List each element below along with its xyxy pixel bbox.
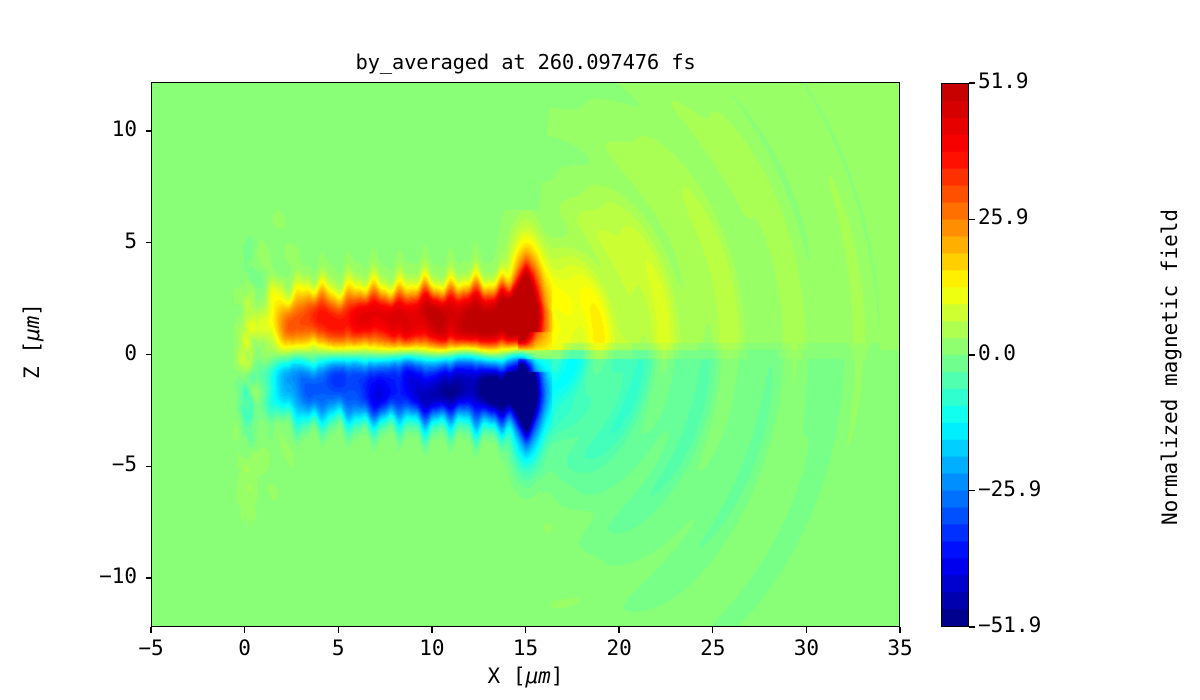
x-axis-label-text: X [ — [488, 664, 526, 688]
colorbar-tick-3 — [969, 219, 975, 220]
x-tick-5 — [618, 627, 619, 633]
y-tick-label-0: −10 — [0, 564, 137, 588]
x-tick-label-0: −5 — [111, 636, 191, 660]
x-axis-label-close: ] — [551, 664, 564, 688]
x-tick-label-7: 30 — [766, 636, 846, 660]
colorbar-tick-label-1: −25.9 — [978, 477, 1041, 501]
y-tick-label-4: 10 — [0, 117, 137, 141]
x-tick-label-6: 25 — [673, 636, 753, 660]
y-tick-1 — [146, 466, 152, 467]
x-tick-1 — [244, 627, 245, 633]
x-tick-label-8: 35 — [860, 636, 940, 660]
y-axis-label: Z [μm] — [20, 231, 44, 451]
colorbar-label: Normalized magnetic field — [1158, 157, 1182, 577]
y-tick-2 — [146, 354, 152, 355]
y-tick-label-1: −5 — [0, 452, 137, 476]
colorbar[interactable] — [941, 83, 969, 627]
x-tick-4 — [525, 627, 526, 633]
x-tick-2 — [338, 627, 339, 633]
x-tick-label-2: 5 — [298, 636, 378, 660]
x-tick-label-5: 20 — [579, 636, 659, 660]
colorbar-gradient — [942, 84, 968, 626]
x-tick-7 — [806, 627, 807, 633]
y-axis-label-text: Z [ — [20, 341, 44, 379]
plot-title: by_averaged at 260.097476 fs — [151, 50, 900, 74]
y-tick-3 — [146, 242, 152, 243]
y-axis-label-unit: μm — [20, 316, 44, 341]
colorbar-tick-2 — [969, 354, 975, 355]
x-axis-label: X [μm] — [151, 664, 900, 688]
x-axis-label-unit: μm — [525, 664, 550, 688]
x-tick-label-4: 15 — [486, 636, 566, 660]
colorbar-tick-4 — [969, 82, 975, 83]
x-tick-label-3: 10 — [392, 636, 472, 660]
y-axis-label-close: ] — [20, 303, 44, 316]
heatmap-axes[interactable] — [151, 82, 900, 627]
x-tick-label-1: 0 — [205, 636, 285, 660]
magnetic-field-heatmap — [152, 83, 899, 626]
colorbar-tick-0 — [969, 626, 975, 627]
x-tick-6 — [712, 627, 713, 633]
figure-canvas: by_averaged at 260.097476 fs −5051015202… — [0, 0, 1200, 700]
y-tick-0 — [146, 577, 152, 578]
x-tick-3 — [431, 627, 432, 633]
y-tick-4 — [146, 130, 152, 131]
x-tick-8 — [899, 627, 900, 633]
colorbar-tick-label-3: 25.9 — [978, 205, 1029, 229]
x-tick-0 — [150, 627, 151, 633]
colorbar-tick-label-0: −51.9 — [978, 613, 1041, 637]
colorbar-tick-label-4: 51.9 — [978, 69, 1029, 93]
colorbar-tick-label-2: 0.0 — [978, 341, 1016, 365]
colorbar-tick-1 — [969, 490, 975, 491]
